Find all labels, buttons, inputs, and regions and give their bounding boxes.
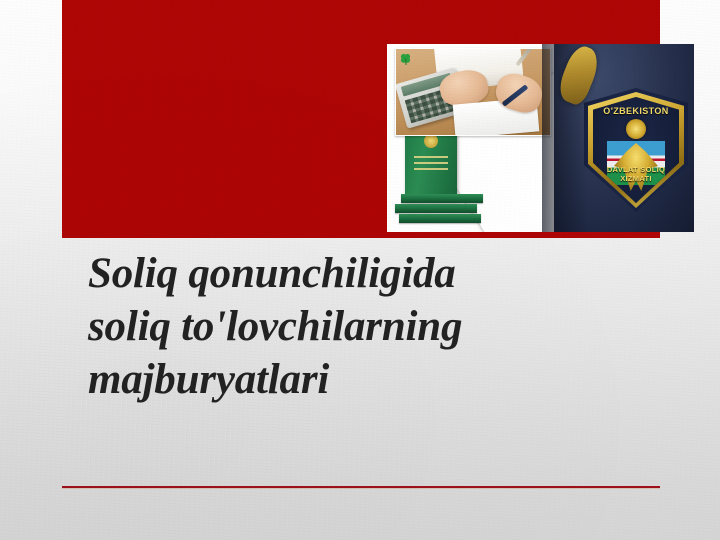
calculator-inset-photo [395, 48, 551, 136]
stacked-book [401, 194, 483, 203]
book-emblem-seal [424, 134, 438, 148]
emblem-star-icon [626, 119, 646, 139]
presentation-slide: O'ZBEKISTON DAVLAT SOLIQ XIZMATI Soliq q… [0, 0, 720, 540]
title-photo-collage: O'ZBEKISTON DAVLAT SOLIQ XIZMATI [387, 44, 694, 232]
emblem-top-text: O'ZBEKISTON [593, 106, 679, 117]
emblem-bottom-line-1: DAVLAT SOLIQ [593, 165, 679, 174]
tax-officer-uniform: O'ZBEKISTON DAVLAT SOLIQ XIZMATI [554, 44, 694, 232]
stacked-book [395, 204, 477, 213]
accent-divider [62, 486, 660, 488]
book-stack [393, 194, 485, 228]
book-title-lines [414, 156, 448, 172]
slide-title: Soliq qonunchiligida soliq to'lovchilarn… [88, 247, 678, 406]
stacked-book [399, 214, 481, 223]
state-tax-service-emblem: O'ZBEKISTON DAVLAT SOLIQ XIZMATI [584, 88, 688, 212]
emblem-field: O'ZBEKISTON DAVLAT SOLIQ XIZMATI [593, 97, 679, 203]
tax-code-book [405, 126, 457, 200]
clover-icon [399, 52, 412, 65]
